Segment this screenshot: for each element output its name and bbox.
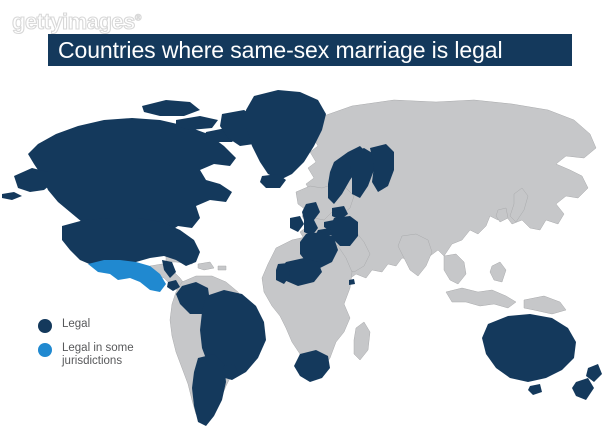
getty-images-watermark: gettyimages® [12,9,141,35]
legend-swatch-partial-icon [38,343,52,357]
world-map [0,70,612,433]
title-banner: Countries where same-sex marriage is leg… [48,34,572,66]
country-region-caribbean-puerto-rico [218,266,226,270]
map-legend: Legal Legal in some jurisdictions [38,318,154,377]
legend-label-partial: Legal in some jurisdictions [62,342,154,368]
legend-item-legal: Legal [38,318,154,333]
country-malta [349,279,355,285]
legend-label-legal: Legal [62,318,90,331]
legend-swatch-legal-icon [38,319,52,333]
watermark-text: gettyimages [12,9,135,34]
world-map-svg [0,70,612,433]
legend-item-partial: Legal in some jurisdictions [38,342,154,368]
page-title: Countries where same-sex marriage is leg… [48,39,502,62]
registered-trademark-icon: ® [135,13,141,23]
infographic-map-canvas: gettyimages® Countries where same-sex ma… [0,0,612,433]
